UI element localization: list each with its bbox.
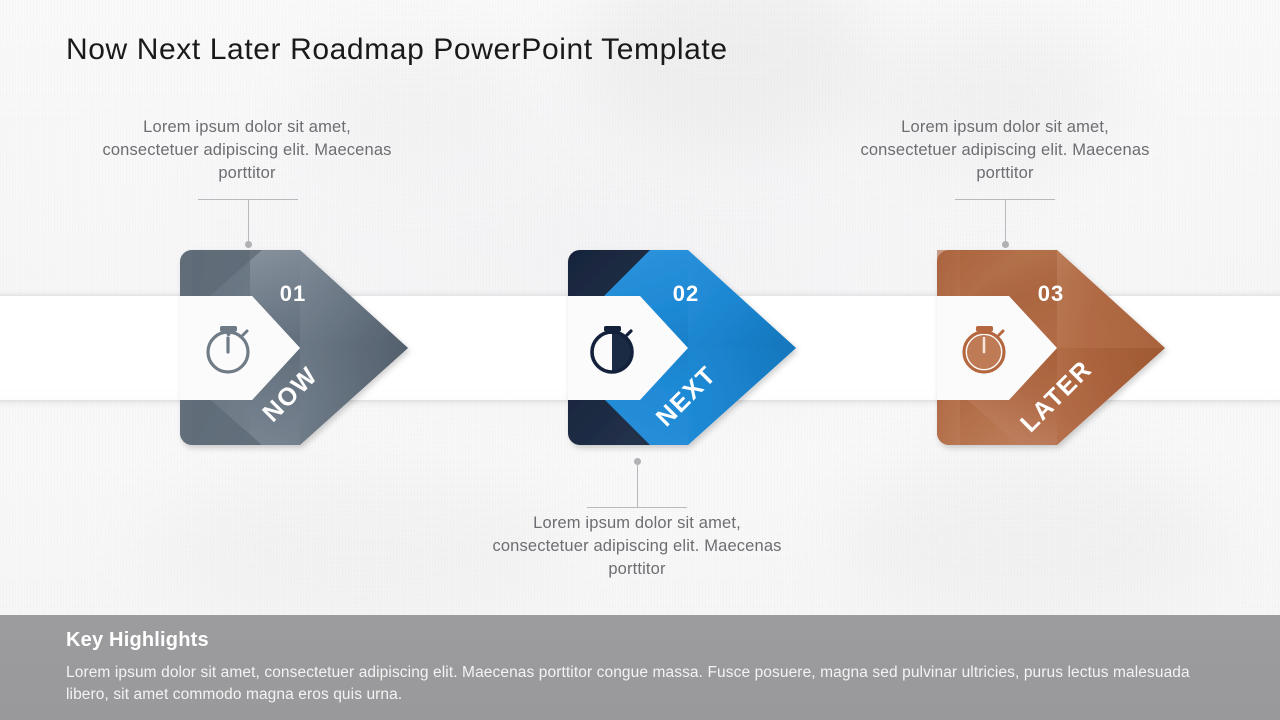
connector-dot [245,241,252,248]
connector-stem [248,199,249,242]
connector-dot [1002,241,1009,248]
slide-canvas: Now Next Later Roadmap PowerPoint Templa… [0,0,1280,720]
step-number-02: 02 [673,281,699,306]
connector-stem [1005,199,1006,242]
callout-text-01: Lorem ipsum dolor sit amet, consectetuer… [97,116,397,185]
connector-01 [198,199,298,249]
callout-text-03: Lorem ipsum dolor sit amet, consectetuer… [855,116,1155,185]
chevron-step-01[interactable] [180,250,408,445]
key-highlights-panel: Key Highlights Lorem ipsum dolor sit ame… [0,615,1280,720]
key-highlights-title: Key Highlights [66,629,1216,652]
step-number-03: 03 [1038,281,1064,306]
connector-02 [587,458,687,508]
connector-stem [637,463,638,507]
connector-03 [955,199,1055,249]
step-number-01: 01 [280,281,306,306]
connector-rule [587,507,687,508]
roadmap-chevrons: 01 02 03 NOW NEXT LATER [0,0,1280,720]
key-highlights-body: Lorem ipsum dolor sit amet, consectetuer… [66,662,1196,706]
callout-text-02: Lorem ipsum dolor sit amet, consectetuer… [487,512,787,581]
